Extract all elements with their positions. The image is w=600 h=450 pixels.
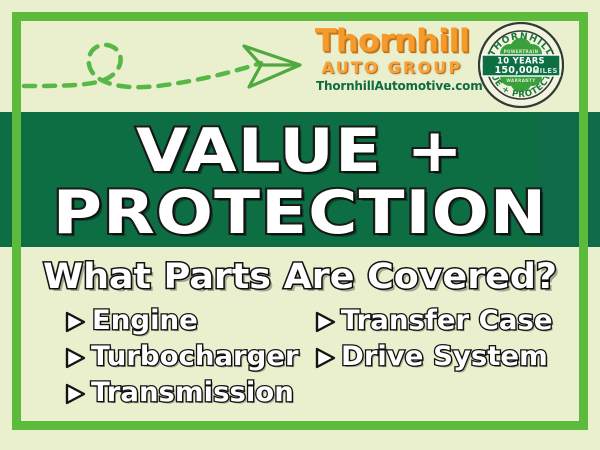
covered-parts-right-column: Transfer Case Drive System: [305, 303, 553, 411]
part-label: Drive System: [341, 342, 548, 372]
logo-website-text: ThornhillAutomotive.com: [316, 79, 468, 94]
list-item: Drive System: [305, 339, 553, 375]
covered-parts-columns: Engine Turbocharger Transmission: [0, 303, 600, 411]
ad-banner: Thornhill AUTO GROUP ThornhillAutomotive…: [0, 0, 600, 450]
list-item: Engine: [55, 303, 305, 339]
headline-line-2: PROTECTION: [0, 182, 600, 244]
coverage-section: What Parts Are Covered? Engine Turbochar…: [0, 247, 600, 450]
headline-band: VALUE + PROTECTION: [0, 112, 600, 247]
triangle-bullet-icon: [63, 382, 87, 406]
seal-warranty-text: WARRANTY: [506, 78, 535, 83]
dashed-path-with-loop-icon: [18, 18, 308, 108]
part-label: Engine: [92, 306, 198, 336]
headline-line-1: VALUE +: [0, 112, 600, 182]
covered-parts-left-column: Engine Turbocharger Transmission: [55, 303, 305, 411]
triangle-bullet-icon: [63, 346, 87, 370]
banner-header: Thornhill AUTO GROUP ThornhillAutomotive…: [0, 0, 600, 112]
seal-years-text: 10 YEARS: [497, 55, 545, 65]
triangle-bullet-icon: [63, 310, 87, 334]
part-label: Transfer Case: [341, 306, 553, 336]
thornhill-logo: Thornhill AUTO GROUP ThornhillAutomotive…: [316, 24, 468, 94]
list-item: Turbocharger: [55, 339, 305, 375]
list-item: Transfer Case: [305, 303, 553, 339]
triangle-bullet-icon: [313, 346, 337, 370]
paper-plane-arrow-icon: [244, 46, 300, 87]
warranty-seal-badge: THORNHILL VALUE + PROTECTION POWERTRAIN …: [478, 22, 564, 108]
list-item: Transmission: [55, 375, 305, 411]
triangle-bullet-icon: [313, 310, 337, 334]
coverage-question-heading: What Parts Are Covered?: [0, 247, 600, 297]
logo-subtitle-text: AUTO GROUP: [316, 59, 468, 77]
part-label: Transmission: [91, 378, 294, 408]
seal-miles-unit-text: MILES: [532, 67, 557, 75]
logo-brand-text: Thornhill: [314, 24, 469, 58]
seal-powertrain-text: POWERTRAIN: [504, 49, 539, 54]
part-label: Turbocharger: [91, 342, 299, 372]
